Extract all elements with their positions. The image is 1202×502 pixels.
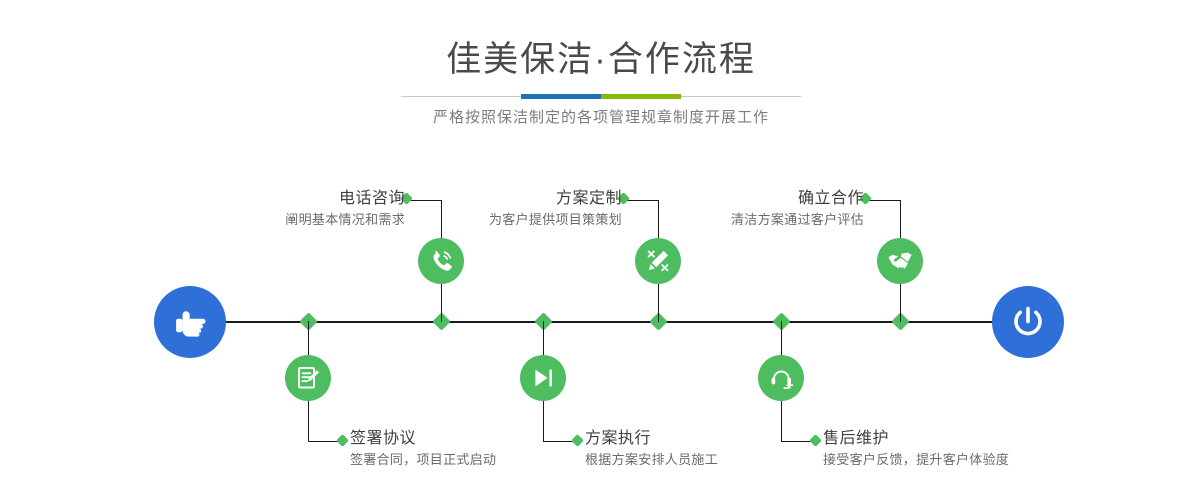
step-icon-step-4[interactable] <box>520 355 566 401</box>
timeline-end-node[interactable] <box>992 286 1064 358</box>
step-label-step-2: 签署协议 签署合同，项目正式启动 <box>350 428 610 470</box>
pencil-ruler-icon <box>644 247 672 275</box>
step-desc-step-2: 签署合同，项目正式启动 <box>350 450 610 470</box>
connector-endpoint-step-2 <box>336 434 349 447</box>
step-label-step-3: 方案定制 为客户提供项目策策划 <box>370 188 622 230</box>
step-title-step-4: 方案执行 <box>585 428 845 450</box>
step-title-step-1: 电话咨询 <box>150 188 405 210</box>
step-desc-step-6: 接受客户反馈，提升客户体验度 <box>823 450 1103 470</box>
divider-segment-blue <box>521 94 601 99</box>
handshake-icon <box>886 247 914 275</box>
step-desc-step-1: 阐明基本情况和需求 <box>150 210 405 230</box>
hand-pointing-icon <box>170 302 210 342</box>
step-title-step-5: 确立合作 <box>610 188 864 210</box>
step-icon-step-5[interactable] <box>877 238 923 284</box>
step-title-step-3: 方案定制 <box>370 188 622 210</box>
title-divider <box>401 94 801 99</box>
step-title-step-6: 售后维护 <box>823 428 1103 450</box>
step-icon-step-3[interactable] <box>635 238 681 284</box>
phone-call-icon <box>427 247 455 275</box>
divider-segment-green <box>601 94 681 99</box>
step-label-step-5: 确立合作 清洁方案通过客户评估 <box>610 188 864 230</box>
step-desc-step-5: 清洁方案通过客户评估 <box>610 210 864 230</box>
step-label-step-1: 电话咨询 阐明基本情况和需求 <box>150 188 405 230</box>
timeline-start-node[interactable] <box>154 286 226 358</box>
page-subtitle: 严格按照保洁制定的各项管理规章制度开展工作 <box>0 106 1202 130</box>
step-label-step-4: 方案执行 根据方案安排人员施工 <box>585 428 845 470</box>
step-icon-step-2[interactable] <box>285 355 331 401</box>
play-execute-icon <box>529 364 557 392</box>
step-label-step-6: 售后维护 接受客户反馈，提升客户体验度 <box>823 428 1103 470</box>
page-title: 佳美保洁·合作流程 <box>0 38 1202 82</box>
connector-horizontal-step-5 <box>867 200 901 201</box>
power-icon <box>1007 301 1049 343</box>
headset-support-icon <box>767 364 795 392</box>
step-desc-step-3: 为客户提供项目策策划 <box>370 210 622 230</box>
step-icon-step-1[interactable] <box>418 238 464 284</box>
flow-diagram-canvas: 佳美保洁·合作流程 严格按照保洁制定的各项管理规章制度开展工作 <box>0 0 1202 502</box>
step-desc-step-4: 根据方案安排人员施工 <box>585 450 845 470</box>
document-sign-icon <box>294 364 322 392</box>
step-icon-step-6[interactable] <box>758 355 804 401</box>
